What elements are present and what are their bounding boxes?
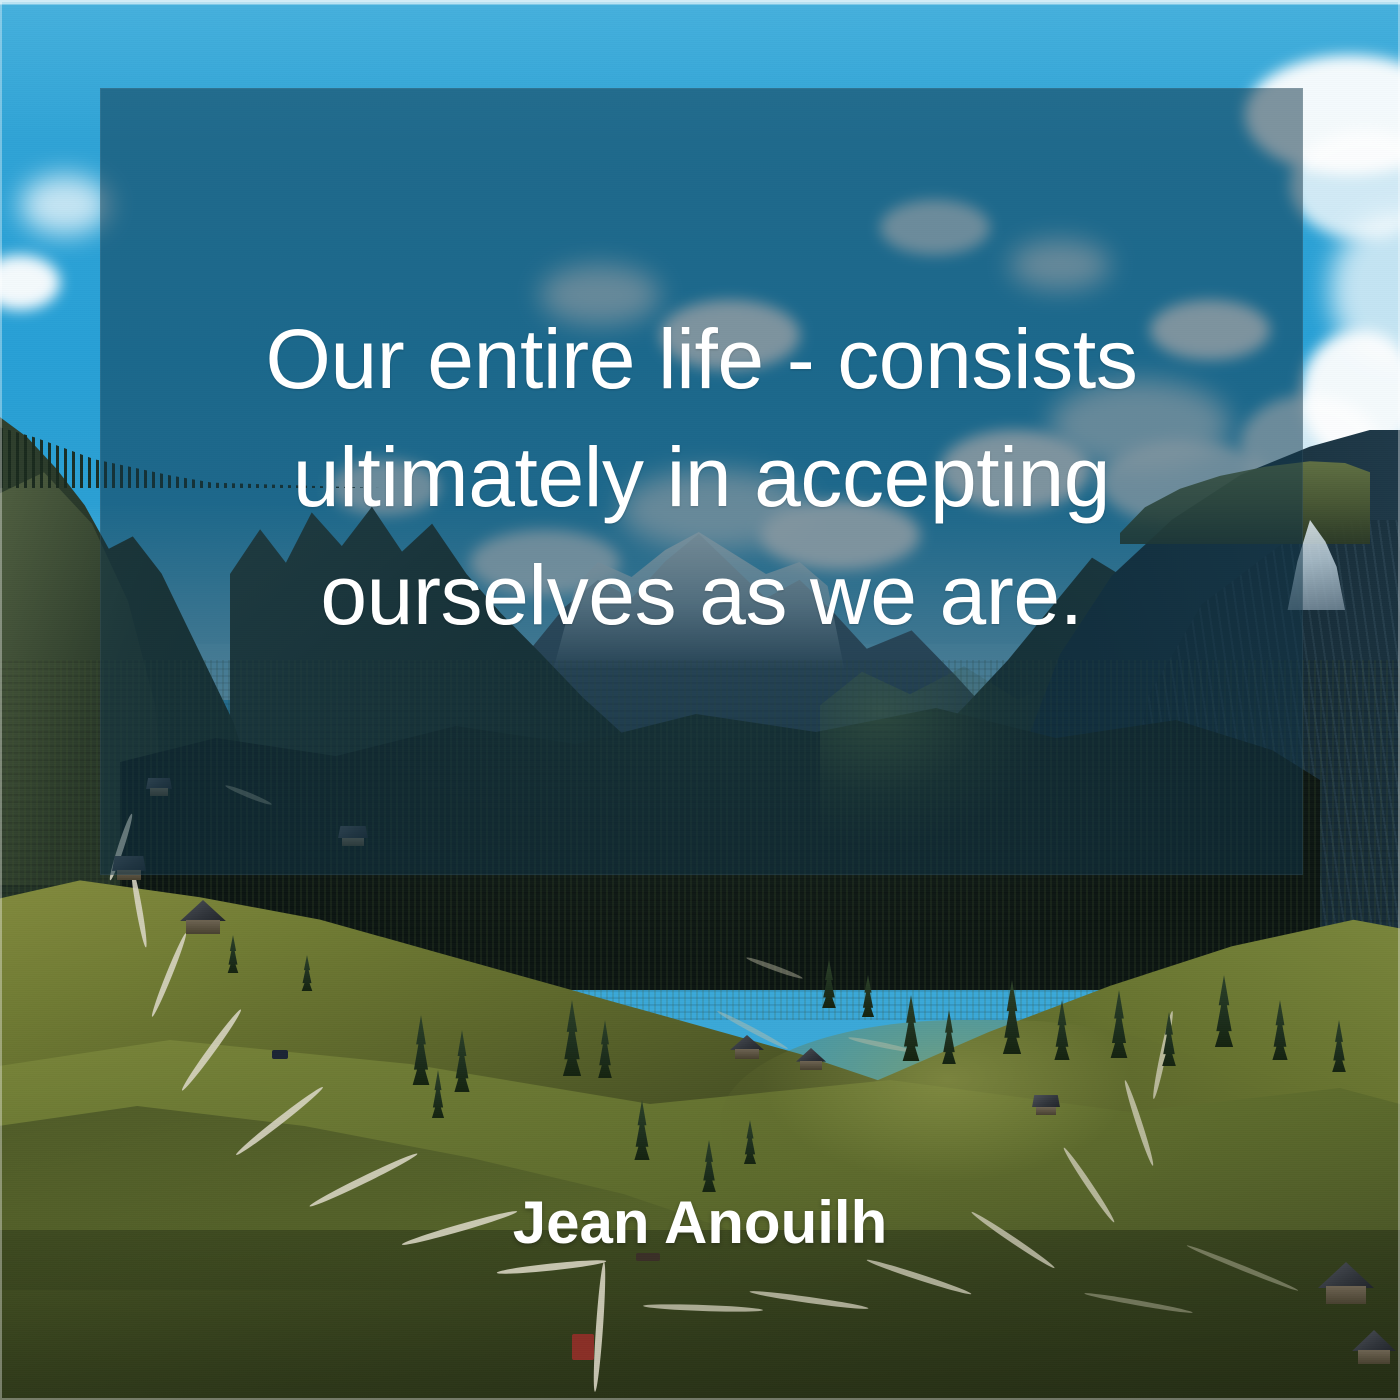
alpine-hut [796,1048,826,1070]
vehicle [572,1334,594,1360]
quote-line-3: ourselves as we are. [100,536,1303,654]
alpine-hut [1352,1330,1396,1364]
quote-line-1: Our entire life - consists [100,300,1303,418]
hut-roof [1352,1330,1396,1351]
alpine-hut [730,1035,764,1059]
hut-roof [1318,1262,1374,1288]
hut-roof [1032,1095,1060,1107]
alpine-hut [1318,1262,1374,1304]
hut-wall [735,1049,759,1059]
quote-card: Our entire life - consists ultimately in… [0,0,1400,1400]
hut-wall [186,920,219,934]
hut-wall [1036,1107,1056,1115]
hut-wall [1358,1350,1390,1364]
alpine-hut [1032,1095,1060,1115]
vehicle [272,1050,288,1059]
hut-roof [796,1048,826,1062]
hut-roof [730,1035,764,1050]
quote-line-2: ultimately in accepting [100,418,1303,536]
alpine-hut [180,900,226,934]
author-attribution: Jean Anouilh [0,1188,1400,1258]
quote-text-block: Our entire life - consists ultimately in… [100,300,1303,654]
hut-wall [800,1061,822,1070]
hut-roof [180,900,226,921]
hut-wall [1326,1286,1366,1304]
cloud [20,175,110,235]
